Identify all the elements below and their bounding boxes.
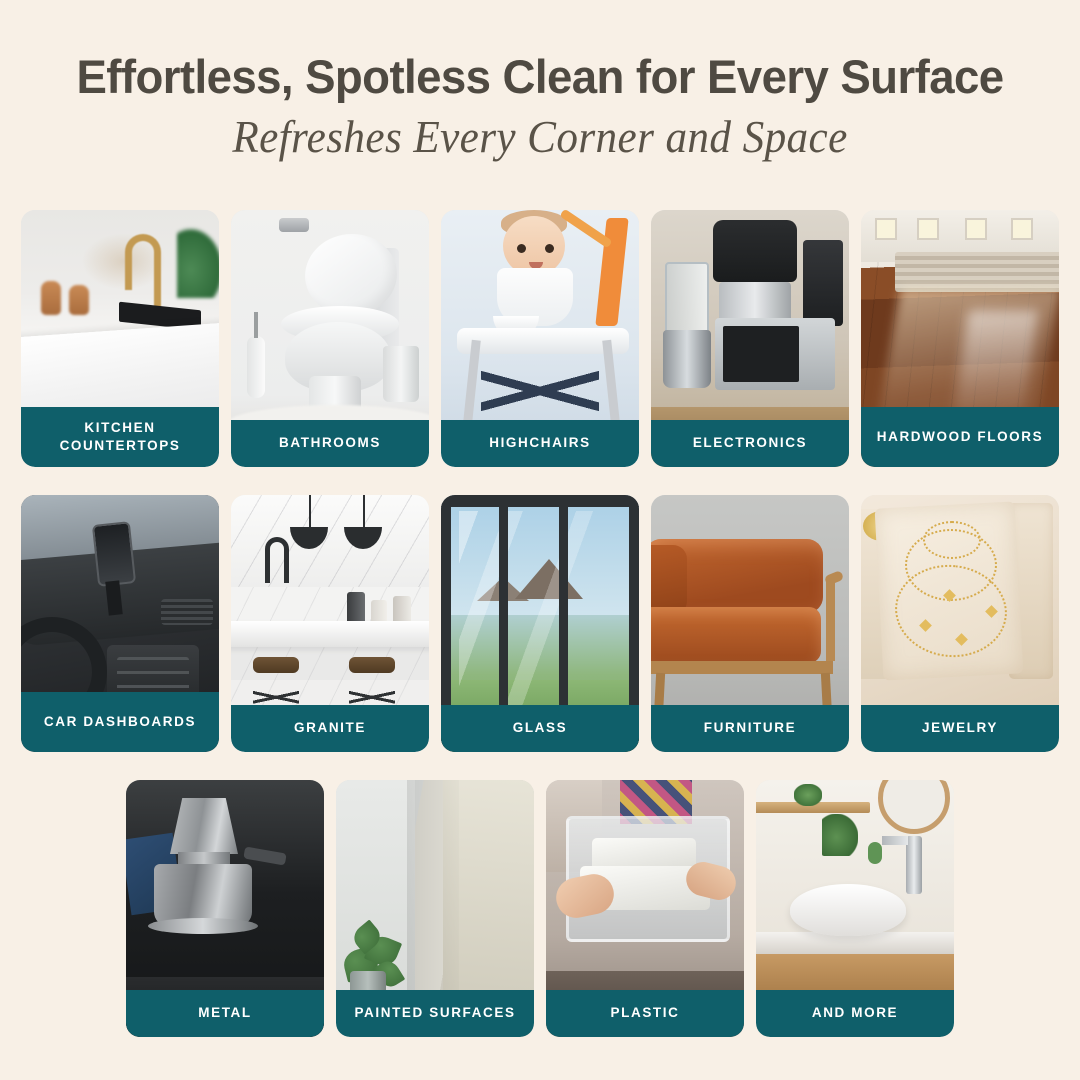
- radiator-icon: [895, 252, 1059, 292]
- card-row-2: CAR DASHBOARDS GRANITE: [20, 495, 1060, 752]
- faucet-icon: [265, 537, 289, 583]
- kitchen-island-shape: [231, 621, 429, 647]
- card-label: ELECTRONICS: [651, 420, 849, 467]
- surface-card-bathrooms[interactable]: BATHROOMS: [231, 210, 429, 467]
- window-pane-shape: [965, 218, 987, 240]
- coffee-machine-icon: [803, 240, 843, 326]
- surface-card-hardwood-floors[interactable]: HARDWOOD FLOORS: [861, 210, 1059, 467]
- card-row-3: METAL PAINTED SURFACES: [20, 780, 1060, 1037]
- card-label: HIGHCHAIRS: [441, 420, 639, 467]
- moka-pot-top-shape: [170, 798, 238, 854]
- surface-card-highchairs[interactable]: HIGHCHAIRS: [441, 210, 639, 467]
- moka-pot-base-shape: [154, 864, 252, 926]
- surface-card-furniture[interactable]: FURNITURE: [651, 495, 849, 752]
- sofa-back-cushion-shape: [651, 545, 687, 615]
- faucet-icon: [906, 836, 922, 894]
- pendant-lamp-cord: [309, 495, 311, 529]
- window-pane-shape: [875, 218, 897, 240]
- window-pane-shape: [917, 218, 939, 240]
- page-title: Effortless, Spotless Clean for Every Sur…: [16, 52, 1064, 102]
- pressure-cooker-icon: [713, 220, 797, 282]
- baby-eye-shape: [517, 244, 526, 253]
- plant-leaf-icon: [794, 784, 822, 806]
- marble-backsplash-shape: [231, 495, 429, 587]
- jar-icon: [41, 281, 61, 315]
- sofa-wood-base-shape: [651, 661, 833, 674]
- card-label: JEWELRY: [861, 705, 1059, 752]
- cactus-icon: [868, 842, 882, 864]
- surface-card-car-dashboards[interactable]: CAR DASHBOARDS: [21, 495, 219, 752]
- card-label: KITCHEN COUNTERTOPS: [21, 407, 219, 467]
- jar-icon: [69, 285, 89, 315]
- card-label: FURNITURE: [651, 705, 849, 752]
- blender-base-icon: [663, 330, 711, 388]
- vessel-sink-shape: [790, 884, 906, 936]
- air-vent-icon: [161, 599, 213, 625]
- microwave-icon: [715, 318, 835, 390]
- moka-pot-rim-shape: [148, 918, 258, 934]
- plant-leaf-icon: [822, 814, 858, 856]
- baby-legs-shape: [481, 352, 599, 430]
- surface-card-plastic[interactable]: PLASTIC: [546, 780, 744, 1037]
- card-label: CAR DASHBOARDS: [21, 692, 219, 752]
- pot-handle-icon: [243, 846, 286, 865]
- sofa-arm-post-shape: [826, 577, 835, 661]
- card-row-1: KITCHEN COUNTERTOPS BATHROOMS: [20, 210, 1060, 467]
- card-label: PLASTIC: [546, 990, 744, 1037]
- sofa-seat-cushion-shape: [651, 607, 821, 663]
- moka-pot-neck-shape: [178, 852, 230, 864]
- card-label: BATHROOMS: [231, 420, 429, 467]
- toilet-paper-holder-icon: [279, 218, 309, 232]
- surface-card-kitchen-countertops[interactable]: KITCHEN COUNTERTOPS: [21, 210, 219, 467]
- surface-card-granite[interactable]: GRANITE: [231, 495, 429, 752]
- surface-card-jewelry[interactable]: JEWELRY: [861, 495, 1059, 752]
- faucet-icon: [125, 234, 161, 290]
- card-label: PAINTED SURFACES: [336, 990, 534, 1037]
- surface-card-metal[interactable]: METAL: [126, 780, 324, 1037]
- phone-icon: [92, 521, 136, 587]
- surface-card-glass[interactable]: GLASS: [441, 495, 639, 752]
- surface-card-and-more[interactable]: AND MORE: [756, 780, 954, 1037]
- surface-card-grid: KITCHEN COUNTERTOPS BATHROOMS: [20, 210, 1060, 1037]
- card-label: METAL: [126, 990, 324, 1037]
- gold-chain-shape: [923, 521, 981, 559]
- baby-eye-shape: [545, 244, 554, 253]
- card-label: AND MORE: [756, 990, 954, 1037]
- surface-card-electronics[interactable]: ELECTRONICS: [651, 210, 849, 467]
- surface-card-painted-surfaces[interactable]: PAINTED SURFACES: [336, 780, 534, 1037]
- toilet-brush-icon: [247, 336, 265, 398]
- pendant-lamp-cord: [363, 495, 365, 529]
- plant-decor-icon: [177, 228, 219, 298]
- waste-bin-icon: [383, 346, 419, 402]
- blender-jar-icon: [665, 262, 709, 332]
- header-section: Effortless, Spotless Clean for Every Sur…: [0, 0, 1080, 164]
- card-label: GRANITE: [231, 705, 429, 752]
- page-subtitle: Refreshes Every Corner and Space: [22, 110, 1059, 164]
- window-pane-shape: [1011, 218, 1033, 240]
- card-label: HARDWOOD FLOORS: [861, 407, 1059, 467]
- card-label: GLASS: [441, 705, 639, 752]
